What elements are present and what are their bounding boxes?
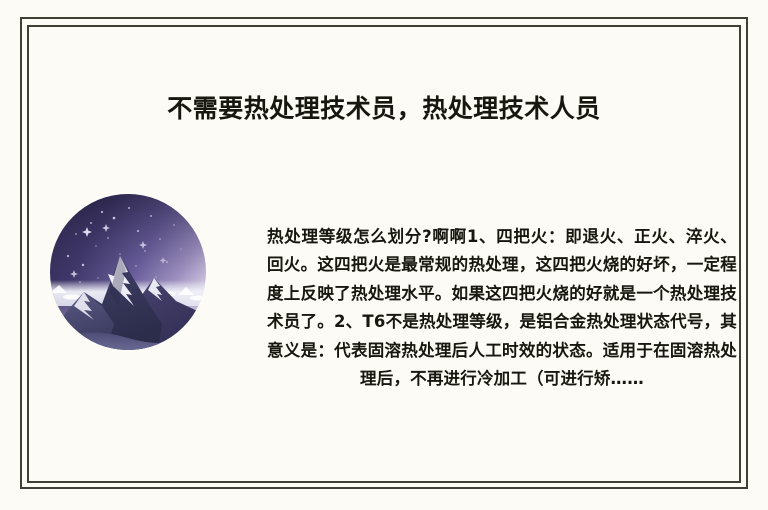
page-title: 不需要热处理技术员，热处理技术人员 (0, 93, 768, 125)
illustration-scene (50, 194, 206, 350)
article-body: 热处理等级怎么划分?啊啊1、四把火：即退火、正火、淬火、回火。这四把火是最常规的… (267, 223, 737, 394)
article-page: 不需要热处理技术员，热处理技术人员 (0, 0, 768, 510)
night-mountain-illustration (50, 194, 206, 350)
